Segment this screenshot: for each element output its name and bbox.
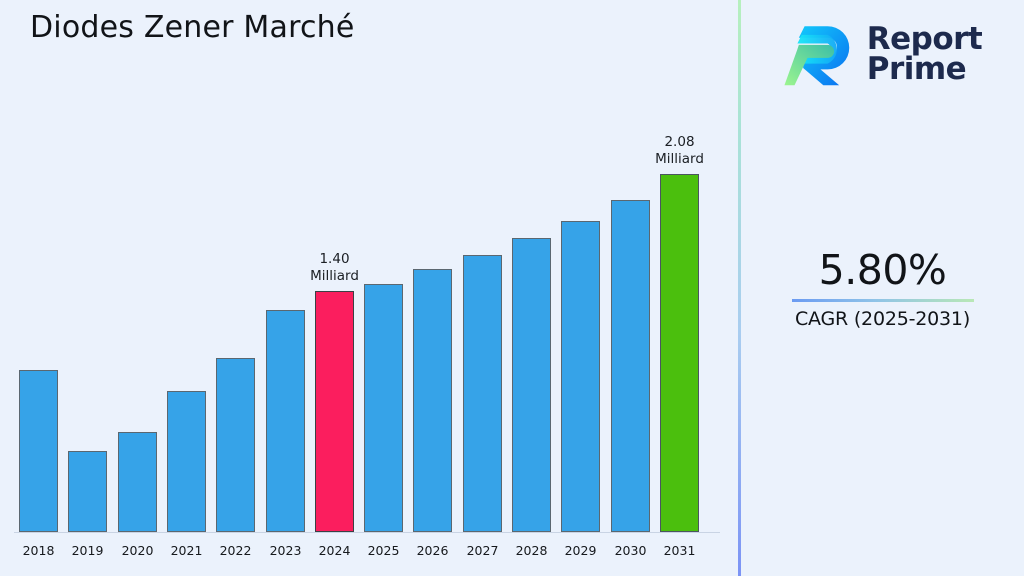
x-tick-label-2020: 2020	[122, 543, 154, 558]
report-prime-logo-icon	[783, 19, 855, 91]
bar-2020[interactable]	[118, 432, 157, 532]
bar-2027[interactable]	[463, 255, 502, 532]
bar-chart-plot: 2018201920202021202220231.40Milliard2024…	[0, 0, 738, 576]
x-tick-label-2029: 2029	[565, 543, 597, 558]
cagr-value: 5.80%	[741, 248, 1024, 293]
bar-value-unit-2024: Milliard	[310, 268, 359, 285]
x-tick-label-2026: 2026	[417, 543, 449, 558]
bar-2022[interactable]	[216, 358, 255, 532]
bar-2030[interactable]	[611, 200, 650, 532]
x-axis-line	[14, 532, 720, 533]
bar-2023[interactable]	[266, 310, 305, 532]
x-tick-label-2025: 2025	[368, 543, 400, 558]
brand-logo: Report Prime	[741, 12, 1024, 98]
x-tick-label-2024: 2024	[319, 543, 351, 558]
x-tick-label-2028: 2028	[516, 543, 548, 558]
bar-2021[interactable]	[167, 391, 206, 532]
x-tick-label-2027: 2027	[467, 543, 499, 558]
x-tick-label-2021: 2021	[171, 543, 203, 558]
bar-value-number-2031: 2.08	[655, 134, 704, 151]
bar-2025[interactable]	[364, 284, 403, 532]
chart-screenshot: Diodes Zener Marché 20182019202020212022…	[0, 0, 1024, 576]
bar-2018[interactable]	[19, 370, 58, 532]
bar-value-number-2024: 1.40	[310, 251, 359, 268]
x-tick-label-2030: 2030	[615, 543, 647, 558]
brand-wordmark-line2: Prime	[867, 55, 983, 85]
x-tick-label-2018: 2018	[23, 543, 55, 558]
bar-2031[interactable]	[660, 174, 699, 532]
bar-2026[interactable]	[413, 269, 452, 532]
bar-2029[interactable]	[561, 221, 600, 532]
x-tick-label-2022: 2022	[220, 543, 252, 558]
cagr-label: CAGR (2025-2031)	[741, 308, 1024, 330]
bar-value-label-2031: 2.08Milliard	[655, 134, 704, 168]
bar-2024[interactable]	[315, 291, 354, 532]
brand-wordmark: Report Prime	[867, 25, 983, 85]
side-panel: Report Prime 5.80% CAGR (2025-2031)	[741, 0, 1024, 576]
bar-2019[interactable]	[68, 451, 107, 532]
cagr-block: 5.80% CAGR (2025-2031)	[741, 248, 1024, 330]
cagr-divider-rule	[792, 299, 974, 302]
chart-panel: Diodes Zener Marché 20182019202020212022…	[0, 0, 738, 576]
bar-value-unit-2031: Milliard	[655, 151, 704, 168]
x-tick-label-2023: 2023	[270, 543, 302, 558]
x-tick-label-2019: 2019	[72, 543, 104, 558]
bar-2028[interactable]	[512, 238, 551, 532]
bar-value-label-2024: 1.40Milliard	[310, 251, 359, 285]
x-tick-label-2031: 2031	[664, 543, 696, 558]
